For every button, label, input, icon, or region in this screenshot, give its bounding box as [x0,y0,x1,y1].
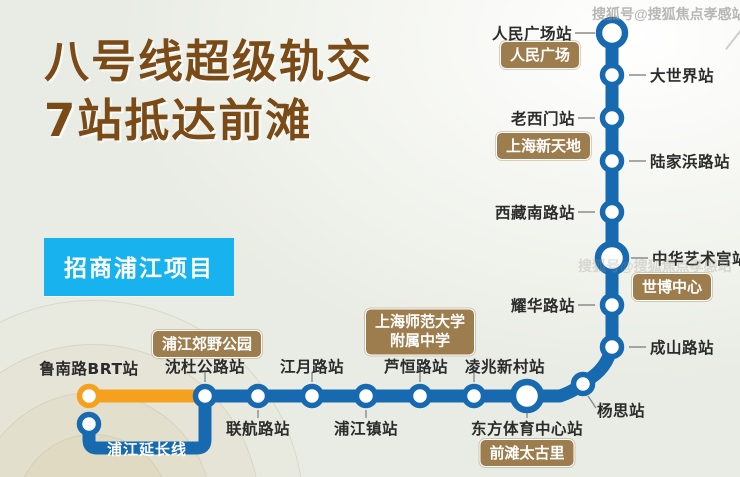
station-tag-shendu-gonglu[interactable]: 浦江郊野公园 [152,330,262,358]
station-tag-luheng-lu[interactable]: 上海师范大学 附属中学 [365,309,475,356]
station-label-chengshan-lu[interactable]: 成山路站 [650,336,714,358]
watermark-text-faint: 搜狐号@搜狐焦点孝感站 [578,256,732,276]
station-label-pujiang-zhen[interactable]: 浦江镇站 [334,417,398,439]
station-dot-lianhang-lu[interactable] [249,387,268,406]
station-dot-yaohua-lu[interactable] [603,296,622,315]
station-dot-jiangyue-lu[interactable] [303,387,322,406]
station-dot-lujiabang-lu[interactable] [603,152,622,171]
station-label-lunan-lu-brt[interactable]: 鲁南路BRT站 [39,357,138,379]
station-tag-dongfang-tiyu[interactable]: 前滩太古里 [479,439,574,467]
station-label-lujiabang-lu[interactable]: 陆家浜路站 [650,150,730,172]
station-label-dongfang-tiyu[interactable]: 东方体育中心站 [471,417,583,439]
station-dot-shendu-gonglu[interactable] [196,387,215,406]
station-label-yangsi[interactable]: 杨思站 [597,399,645,421]
station-tag-luheng-lu-line1: 上海师范大学 [375,313,465,332]
station-label-shendu-gonglu[interactable]: 沈杜公路站 [165,355,245,377]
station-dot-luheng-lu[interactable] [411,387,430,406]
station-label-xizang-nanlu[interactable]: 西藏南路站 [495,201,575,223]
station-dot-laoximen[interactable] [603,109,622,128]
station-label-dashijie[interactable]: 大世界站 [650,64,714,86]
station-dot-branch-terminus[interactable] [80,415,99,434]
station-dot-yangsi[interactable] [574,375,593,394]
station-dot-lunan-lu-brt[interactable] [80,387,99,406]
station-tag-laoximen[interactable]: 上海新天地 [496,132,591,160]
metro-line-poster: 八号线超级轨交 7站抵达前滩 招商浦江项目 [0,0,740,477]
station-dot-lingzhao-xincun[interactable] [465,387,484,406]
station-tag-renmin-guangchang[interactable]: 人民广场 [500,41,580,69]
station-label-laoximen[interactable]: 老西门站 [511,107,575,129]
station-label-yaohua-lu[interactable]: 耀华路站 [511,294,575,316]
station-label-lianhang-lu[interactable]: 联航路站 [226,417,290,439]
station-dot-pujiang-zhen[interactable] [357,387,376,406]
station-dot-chengshan-lu[interactable] [603,338,622,357]
station-dot-xizang-nanlu[interactable] [603,203,622,222]
station-label-lingzhao-xincun[interactable]: 凌兆新村站 [465,355,545,377]
branch-line-label: 浦江延长线 [107,439,187,460]
station-dot-dongfang-tiyu[interactable] [513,382,541,410]
station-tag-luheng-lu-line2: 附属中学 [375,332,465,351]
station-label-luheng-lu[interactable]: 芦恒路站 [384,355,448,377]
station-tag-zhonghua-yishugong[interactable]: 世博中心 [632,273,712,301]
station-label-jiangyue-lu[interactable]: 江月路站 [280,355,344,377]
station-dot-dashijie[interactable] [603,66,622,85]
